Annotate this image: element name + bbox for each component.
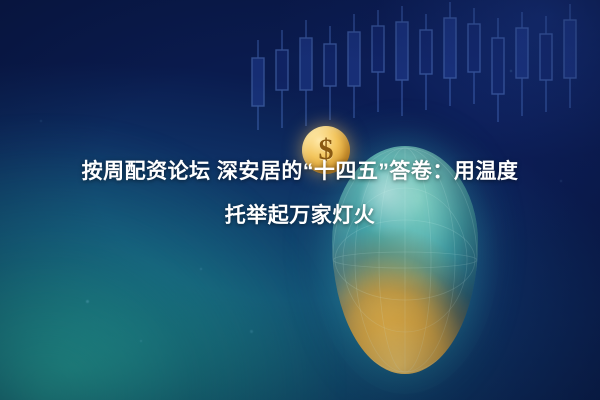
- title-line-2: 托举起万家灯火: [0, 194, 600, 238]
- banner-title: 按周配资论坛 深安居的“十四五”答卷：用温度 托举起万家灯火: [0, 150, 600, 238]
- banner-image: $ 按周配资论坛 深安居的“十四五”答卷：用温度 托举起万家灯火: [0, 0, 600, 400]
- title-line-1: 按周配资论坛 深安居的“十四五”答卷：用温度: [0, 150, 600, 194]
